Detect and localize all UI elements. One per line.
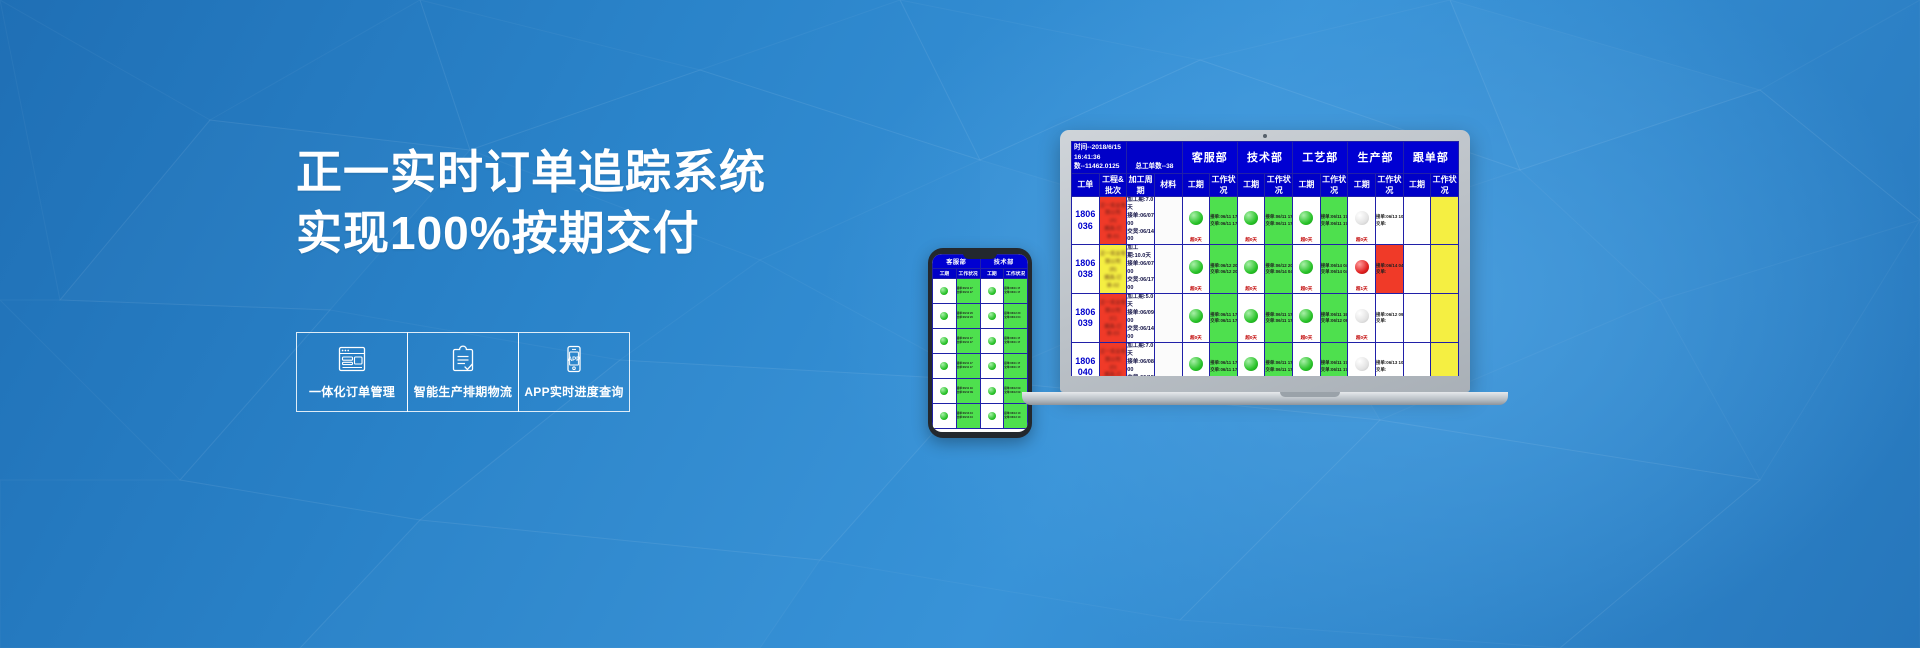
- status-line: 接单:06/11 17: [1321, 360, 1348, 367]
- project-batch-cell[interactable]: 正一实业有限公司(D)模具-订单-04: [1099, 343, 1127, 376]
- overdue-note: 超0天: [1293, 286, 1320, 292]
- cycle-line: 交货:06/14 00: [1127, 326, 1154, 342]
- feature-app-progress-query[interactable]: APP APP实时进度查询: [518, 332, 630, 412]
- dept-status-cell[interactable]: 接单:06/11 17交单:06/11 17: [1210, 294, 1238, 343]
- material-cell[interactable]: [1154, 343, 1182, 376]
- dept-status-cell[interactable]: 接单:06/12 09交单:: [1376, 294, 1404, 343]
- status-dot-green: [988, 387, 996, 395]
- feature-order-management[interactable]: 一体化订单管理: [296, 332, 408, 412]
- status-dot-green: [988, 312, 996, 320]
- hero-banner: 正一实时订单追踪系统 实现100%按期交付 一体化订单管理: [0, 0, 1920, 648]
- dept-duration-cell[interactable]: 超0天: [1182, 343, 1210, 376]
- status-line: 交单:: [1376, 221, 1403, 228]
- status-dot-green: [988, 287, 996, 295]
- phone-notch: [963, 252, 997, 259]
- cycle-line: 加工期:7.0天: [1127, 343, 1154, 359]
- status-dot-green: [1244, 309, 1258, 323]
- dept-duration-cell[interactable]: 超0天: [1182, 245, 1210, 294]
- project-batch-text: 正一实业有限公司(A)模具-订单-01: [1100, 200, 1127, 242]
- status-dot-green: [1299, 357, 1313, 371]
- order-row[interactable]: 接单:06/11 19交单:06/12 09接单:06/12 09交单:06/1…: [933, 379, 1028, 404]
- status-line: 接单:06/11 17: [1210, 360, 1237, 367]
- dept-duration-cell[interactable]: [933, 329, 957, 354]
- board-subheader-row: 工单工程&批次加工周期材料工期工作状况工期工作状况工期工作状况工期工作状况工期工…: [1072, 173, 1459, 196]
- cycle-line: 接单:06/07 00: [1127, 261, 1154, 277]
- status-dot-green: [1189, 260, 1203, 274]
- status-dot-white: [1355, 211, 1369, 225]
- order-row[interactable]: 1806040正一实业有限公司(D)模具-订单-04加工期:7.0天接单:06/…: [1072, 343, 1459, 376]
- status-line: 交单:06/11 17: [957, 366, 980, 370]
- column-header[interactable]: 工期: [1293, 173, 1321, 196]
- cycle-line: 加工期:5.0天: [1127, 294, 1154, 310]
- dept-status-cell[interactable]: 接单:06/11 17交单:06/11 17: [956, 354, 980, 379]
- processing-cycle-cell[interactable]: 加工期:10.0天接单:06/07 00交货:06/17 00: [1127, 245, 1155, 294]
- dept-status-cell[interactable]: [1431, 245, 1459, 294]
- department-header[interactable]: 跟单部: [1403, 142, 1458, 174]
- dept-status-cell[interactable]: [1431, 343, 1459, 376]
- dept-status-cell[interactable]: 接单:06/12 20交单:06/14 04: [1004, 304, 1028, 329]
- status-line: 交单:06/11 17: [1004, 341, 1027, 345]
- board-total-orders: 总工单数--38: [1127, 142, 1182, 174]
- dept-status-cell[interactable]: 接单:06/11 17交单:06/11 17: [1265, 294, 1293, 343]
- laptop-lid: 时间--2018/6/15 16:41:36数--11462.0125总工单数-…: [1060, 130, 1470, 392]
- status-line: 交单:: [1376, 269, 1403, 276]
- dept-status-cell[interactable]: 接单:06/11 19交单:06/12 09: [956, 379, 980, 404]
- dept-status-cell[interactable]: 接单:06/13 10交单:06/13 10: [956, 404, 980, 429]
- department-header[interactable]: 客服部: [1182, 142, 1237, 174]
- cycle-line: 加工期:10.0天: [1127, 245, 1154, 261]
- status-line: 交单:06/11 17: [1210, 367, 1237, 374]
- cycle-line: 接单:06/07 00: [1127, 213, 1154, 229]
- status-line: 交单:06/12 09: [1321, 318, 1348, 325]
- status-dot-green: [988, 412, 996, 420]
- dept-status-cell[interactable]: [1431, 196, 1459, 245]
- dept-status-cell[interactable]: 接单:06/11 17交单:06/11 17: [956, 279, 980, 304]
- dept-duration-cell[interactable]: [980, 329, 1004, 354]
- phone-screen[interactable]: 客服部技术部工期工作状况工期工作状况接单:06/11 17交单:06/11 17…: [932, 254, 1028, 432]
- status-dot-green: [1189, 309, 1203, 323]
- feature-label: 一体化订单管理: [309, 383, 395, 400]
- overdue-note: 超1天: [1348, 286, 1375, 292]
- board-time: 时间--2018/6/15 16:41:36: [1074, 143, 1124, 162]
- dept-status-cell[interactable]: 接单:06/12 20交单:06/14 04: [1265, 245, 1293, 294]
- status-line: 交单:06/11 17: [957, 291, 980, 295]
- dept-duration-cell[interactable]: [933, 354, 957, 379]
- column-header[interactable]: 工期: [980, 269, 1004, 279]
- dept-duration-cell[interactable]: 超0天: [1348, 294, 1376, 343]
- processing-cycle-cell[interactable]: 加工期:7.0天接单:06/07 00交货:06/14 00: [1127, 196, 1155, 245]
- board-header-row: 时间--2018/6/15 16:41:36数--11462.0125总工单数-…: [1072, 142, 1459, 174]
- status-dot-green: [940, 287, 948, 295]
- dept-duration-cell[interactable]: [1403, 343, 1431, 376]
- work-order-number[interactable]: 1806038: [1072, 245, 1100, 294]
- overdue-note: 超0天: [1238, 286, 1265, 292]
- project-batch-text: 正一实业有限公司(B)模具-订单-02: [1100, 248, 1127, 290]
- column-header[interactable]: 加工周期: [1127, 173, 1155, 196]
- dept-duration-cell[interactable]: [980, 279, 1004, 304]
- project-batch-cell[interactable]: 正一实业有限公司(B)模具-订单-02: [1099, 245, 1127, 294]
- webcam-icon: [1263, 134, 1267, 138]
- headline-line-2: 实现100%按期交付: [296, 203, 856, 264]
- column-header[interactable]: 工期: [933, 269, 957, 279]
- overdue-note: 超0天: [1183, 335, 1210, 341]
- status-line: 交单:06/14 04: [1265, 269, 1292, 276]
- dept-status-cell[interactable]: 接单:06/14 04交单:06/14 04: [1320, 245, 1348, 294]
- order-row[interactable]: 1806038正一实业有限公司(B)模具-订单-02加工期:10.0天接单:06…: [1072, 245, 1459, 294]
- overdue-note: 超0天: [1293, 335, 1320, 341]
- status-line: 交单:06/11 17: [957, 341, 980, 345]
- order-row[interactable]: 接单:06/11 17交单:06/11 17接单:06/11 17交单:06/1…: [933, 279, 1028, 304]
- clipboard-icon: [446, 344, 480, 374]
- phone-body: 客服部技术部工期工作状况工期工作状况接单:06/11 17交单:06/11 17…: [928, 248, 1032, 438]
- cycle-line: 交货:06/14 00: [1127, 229, 1154, 245]
- department-header[interactable]: 生产部: [1348, 142, 1403, 174]
- status-line: 接单:06/11 17: [1265, 214, 1292, 221]
- status-line: 交单:06/12 09: [957, 391, 980, 395]
- dept-duration-cell[interactable]: 超0天: [1237, 196, 1265, 245]
- dept-duration-cell[interactable]: 超0天: [1182, 196, 1210, 245]
- status-dot-green: [988, 362, 996, 370]
- project-batch-cell[interactable]: 正一实业有限公司(A)模具-订单-01: [1099, 196, 1127, 245]
- status-dot-green: [1189, 211, 1203, 225]
- dept-duration-cell[interactable]: [1403, 245, 1431, 294]
- overdue-note: 超0天: [1293, 237, 1320, 243]
- order-row[interactable]: 接单:06/11 17交单:06/11 17接单:06/11 17交单:06/1…: [933, 354, 1028, 379]
- dept-status-cell[interactable]: 接单:06/12 20交单:06/12 20: [956, 304, 980, 329]
- status-dot-green: [940, 412, 948, 420]
- column-header[interactable]: 工作状况: [1004, 269, 1028, 279]
- feature-production-scheduling[interactable]: 智能生产排期物流: [407, 332, 519, 412]
- dept-status-cell[interactable]: 接单:06/13 10交单:: [1376, 343, 1404, 376]
- status-dot-green: [1299, 309, 1313, 323]
- column-header[interactable]: 工期: [1237, 173, 1265, 196]
- project-batch-text: 正一实业有限公司(C)模具-订单-03: [1100, 297, 1127, 339]
- dept-status-cell[interactable]: 接单:06/12 20交单:06/12 20: [1210, 245, 1238, 294]
- dept-status-cell[interactable]: 接单:06/11 17交单:06/11 17: [1320, 196, 1348, 245]
- dept-duration-cell[interactable]: 超0天: [1293, 294, 1321, 343]
- material-cell[interactable]: [1154, 196, 1182, 245]
- status-line: 交单:: [1376, 367, 1403, 374]
- status-dot-green: [940, 387, 948, 395]
- status-line: 交单:06/14 04: [1321, 269, 1348, 276]
- dept-duration-cell[interactable]: [980, 354, 1004, 379]
- dept-duration-cell[interactable]: 超0天: [1237, 245, 1265, 294]
- status-line: 接单:06/11 17: [1321, 214, 1348, 221]
- status-line: 接单:06/13 10: [1376, 360, 1403, 367]
- feature-label: APP实时进度查询: [524, 383, 623, 400]
- status-line: 交单:06/11 17: [1004, 291, 1027, 295]
- board-meta-left: 时间--2018/6/15 16:41:36数--11462.0125: [1072, 142, 1127, 174]
- dept-status-cell[interactable]: [1431, 294, 1459, 343]
- feature-box-group: 一体化订单管理 智能生产排期物流 APP: [296, 332, 629, 412]
- status-line: 交单:06/11 17: [1210, 318, 1237, 325]
- order-row[interactable]: 1806036正一实业有限公司(A)模具-订单-01加工期:7.0天接单:06/…: [1072, 196, 1459, 245]
- smartphone-device: 客服部技术部工期工作状况工期工作状况接单:06/11 17交单:06/11 17…: [928, 248, 1032, 438]
- mobile-app-icon: APP: [557, 344, 591, 374]
- column-header[interactable]: 工期: [1182, 173, 1210, 196]
- cycle-line: 交货:06/17 00: [1127, 277, 1154, 293]
- dept-status-cell[interactable]: 接单:06/14 04交单:: [1376, 245, 1404, 294]
- dept-duration-cell[interactable]: 超0天: [1348, 196, 1376, 245]
- feature-label: 智能生产排期物流: [414, 383, 512, 400]
- status-line: 交单:06/11 17: [1265, 318, 1292, 325]
- dept-status-cell[interactable]: 接单:06/13 10交单:: [1376, 196, 1404, 245]
- order-row[interactable]: 1806039正一实业有限公司(C)模具-订单-03加工期:5.0天接单:06/…: [1072, 294, 1459, 343]
- order-row[interactable]: 接单:06/13 10交单:06/13 10接单:06/13 10交单:06/1…: [933, 404, 1028, 429]
- dept-duration-cell[interactable]: 超0天: [1293, 196, 1321, 245]
- dept-duration-cell[interactable]: 超0天: [1182, 294, 1210, 343]
- status-dot-green: [940, 312, 948, 320]
- status-line: 交单:06/11 17: [1321, 367, 1348, 374]
- dept-status-cell[interactable]: 接单:06/11 17交单:06/11 17: [1265, 343, 1293, 376]
- overdue-note: 超0天: [1348, 237, 1375, 243]
- dept-status-cell[interactable]: 接单:06/11 17交单:06/11 17: [1210, 196, 1238, 245]
- dept-duration-cell[interactable]: 超0天: [1237, 294, 1265, 343]
- phone-subheader-row: 工期工作状况工期工作状况: [933, 269, 1028, 279]
- dept-status-cell[interactable]: 接单:06/11 17交单:06/11 17: [1004, 279, 1028, 304]
- browser-window-icon: [335, 344, 369, 374]
- dept-duration-cell[interactable]: [980, 379, 1004, 404]
- department-header[interactable]: 工艺部: [1293, 142, 1348, 174]
- order-tracking-board[interactable]: 时间--2018/6/15 16:41:36数--11462.0125总工单数-…: [1071, 141, 1459, 376]
- dept-duration-cell[interactable]: [1403, 294, 1431, 343]
- status-dot-red: [1355, 260, 1369, 274]
- dept-duration-cell[interactable]: [933, 379, 957, 404]
- column-header[interactable]: 工作状况: [1210, 173, 1238, 196]
- dept-duration-cell[interactable]: 超0天: [1348, 343, 1376, 376]
- dept-status-cell[interactable]: 接单:06/11 17交单:06/11 17: [1210, 343, 1238, 376]
- processing-cycle-cell[interactable]: 加工期:7.0天接单:06/08 00交货:06/15 00: [1127, 343, 1155, 376]
- status-dot-white: [1355, 309, 1369, 323]
- hero-copy: 正一实时订单追踪系统 实现100%按期交付: [296, 142, 856, 263]
- status-line: 交单:06/13 10: [957, 416, 980, 420]
- status-dot-green: [1244, 357, 1258, 371]
- status-line: 接单:06/11 17: [1210, 214, 1237, 221]
- dept-duration-cell[interactable]: [933, 304, 957, 329]
- status-dot-green: [940, 337, 948, 345]
- column-header[interactable]: 材料: [1154, 173, 1182, 196]
- column-header[interactable]: 工期: [1348, 173, 1376, 196]
- dept-duration-cell[interactable]: [1403, 196, 1431, 245]
- svg-text:APP: APP: [568, 357, 580, 363]
- column-header[interactable]: 工期: [1403, 173, 1431, 196]
- status-dot-green: [988, 337, 996, 345]
- board-count: 数--11462.0125: [1074, 162, 1124, 172]
- processing-cycle-cell[interactable]: 加工期:5.0天接单:06/09 00交货:06/14 00: [1127, 294, 1155, 343]
- status-line: 接单:06/11 17: [1265, 360, 1292, 367]
- dept-status-cell[interactable]: 接单:06/11 19交单:06/12 09: [1320, 294, 1348, 343]
- dept-status-cell[interactable]: 接单:06/11 17交单:06/11 17: [1004, 329, 1028, 354]
- laptop-device: 时间--2018/6/15 16:41:36数--11462.0125总工单数-…: [1060, 130, 1560, 420]
- laptop-screen[interactable]: 时间--2018/6/15 16:41:36数--11462.0125总工单数-…: [1071, 141, 1459, 376]
- overdue-note: 超0天: [1183, 286, 1210, 292]
- status-line: 交单:06/11 17: [1210, 221, 1237, 228]
- work-order-number[interactable]: 1806039: [1072, 294, 1100, 343]
- dept-status-cell[interactable]: 接单:06/11 17交单:06/11 17: [1004, 354, 1028, 379]
- status-dot-green: [1189, 357, 1203, 371]
- status-line: 交单:: [1376, 318, 1403, 325]
- dept-duration-cell[interactable]: [933, 279, 957, 304]
- cycle-line: 加工期:7.0天: [1127, 197, 1154, 213]
- column-header[interactable]: 工作状况: [1376, 173, 1404, 196]
- status-dot-green: [1244, 260, 1258, 274]
- status-line: 交单:06/12 20: [957, 316, 980, 320]
- status-dot-green: [1244, 211, 1258, 225]
- column-header[interactable]: 工作状况: [1320, 173, 1348, 196]
- dept-status-cell[interactable]: 接单:06/11 17交单:06/11 17: [956, 329, 980, 354]
- column-header[interactable]: 工作状况: [956, 269, 980, 279]
- status-line: 交单:06/11 17: [1265, 221, 1292, 228]
- status-line: 交单:06/11 17: [1265, 367, 1292, 374]
- dept-status-cell[interactable]: 接单:06/11 17交单:06/11 17: [1265, 196, 1293, 245]
- order-row[interactable]: 接单:06/12 20交单:06/12 20接单:06/12 20交单:06/1…: [933, 304, 1028, 329]
- overdue-note: 超0天: [1183, 237, 1210, 243]
- column-header[interactable]: 工单: [1072, 173, 1100, 196]
- dept-duration-cell[interactable]: [980, 404, 1004, 429]
- material-cell[interactable]: [1154, 294, 1182, 343]
- work-order-number[interactable]: 1806036: [1072, 196, 1100, 245]
- project-batch-text: 正一实业有限公司(D)模具-订单-04: [1100, 346, 1127, 376]
- dept-status-cell[interactable]: 接单:06/13 10交单:06/13 10: [1004, 404, 1028, 429]
- status-line: 交单:06/11 17: [1004, 366, 1027, 370]
- status-dot-green: [1299, 211, 1313, 225]
- status-line: 接单:06/13 10: [1376, 214, 1403, 221]
- dept-duration-cell[interactable]: [933, 404, 957, 429]
- dept-duration-cell[interactable]: 超0天: [1293, 343, 1321, 376]
- cycle-line: 接单:06/09 00: [1127, 310, 1154, 326]
- status-dot-green: [1299, 260, 1313, 274]
- dept-duration-cell[interactable]: 超0天: [1237, 343, 1265, 376]
- status-line: 交单:06/11 17: [1321, 221, 1348, 228]
- status-line: 交单:06/14 04: [1004, 316, 1027, 320]
- dept-status-cell[interactable]: 接单:06/11 17交单:06/11 17: [1320, 343, 1348, 376]
- headline-line-1: 正一实时订单追踪系统: [296, 142, 856, 203]
- overdue-note: 超0天: [1238, 335, 1265, 341]
- material-cell[interactable]: [1154, 245, 1182, 294]
- department-header[interactable]: 技术部: [1237, 142, 1292, 174]
- column-header[interactable]: 工作状况: [1265, 173, 1293, 196]
- status-line: 交单:06/12 20: [1210, 269, 1237, 276]
- status-dot-white: [1355, 357, 1369, 371]
- laptop-base: [1022, 392, 1508, 405]
- overdue-note: 超0天: [1348, 335, 1375, 341]
- overdue-note: 超0天: [1238, 237, 1265, 243]
- laptop-hinge-notch: [1280, 392, 1340, 397]
- cycle-line: 交货:06/15 00: [1127, 375, 1154, 376]
- cycle-line: 接单:06/08 00: [1127, 359, 1154, 375]
- work-order-number[interactable]: 1806040: [1072, 343, 1100, 376]
- dept-duration-cell[interactable]: [980, 304, 1004, 329]
- dept-duration-cell[interactable]: 超0天: [1293, 245, 1321, 294]
- status-line: 交单:06/13 10: [1004, 416, 1027, 420]
- column-header[interactable]: 工程&批次: [1099, 173, 1127, 196]
- column-header[interactable]: 工作状况: [1431, 173, 1459, 196]
- project-batch-cell[interactable]: 正一实业有限公司(C)模具-订单-03: [1099, 294, 1127, 343]
- status-dot-green: [940, 362, 948, 370]
- order-row[interactable]: 接单:06/11 17交单:06/11 17接单:06/11 17交单:06/1…: [933, 329, 1028, 354]
- dept-duration-cell[interactable]: 超1天: [1348, 245, 1376, 294]
- phone-order-board[interactable]: 客服部技术部工期工作状况工期工作状况接单:06/11 17交单:06/11 17…: [932, 254, 1028, 429]
